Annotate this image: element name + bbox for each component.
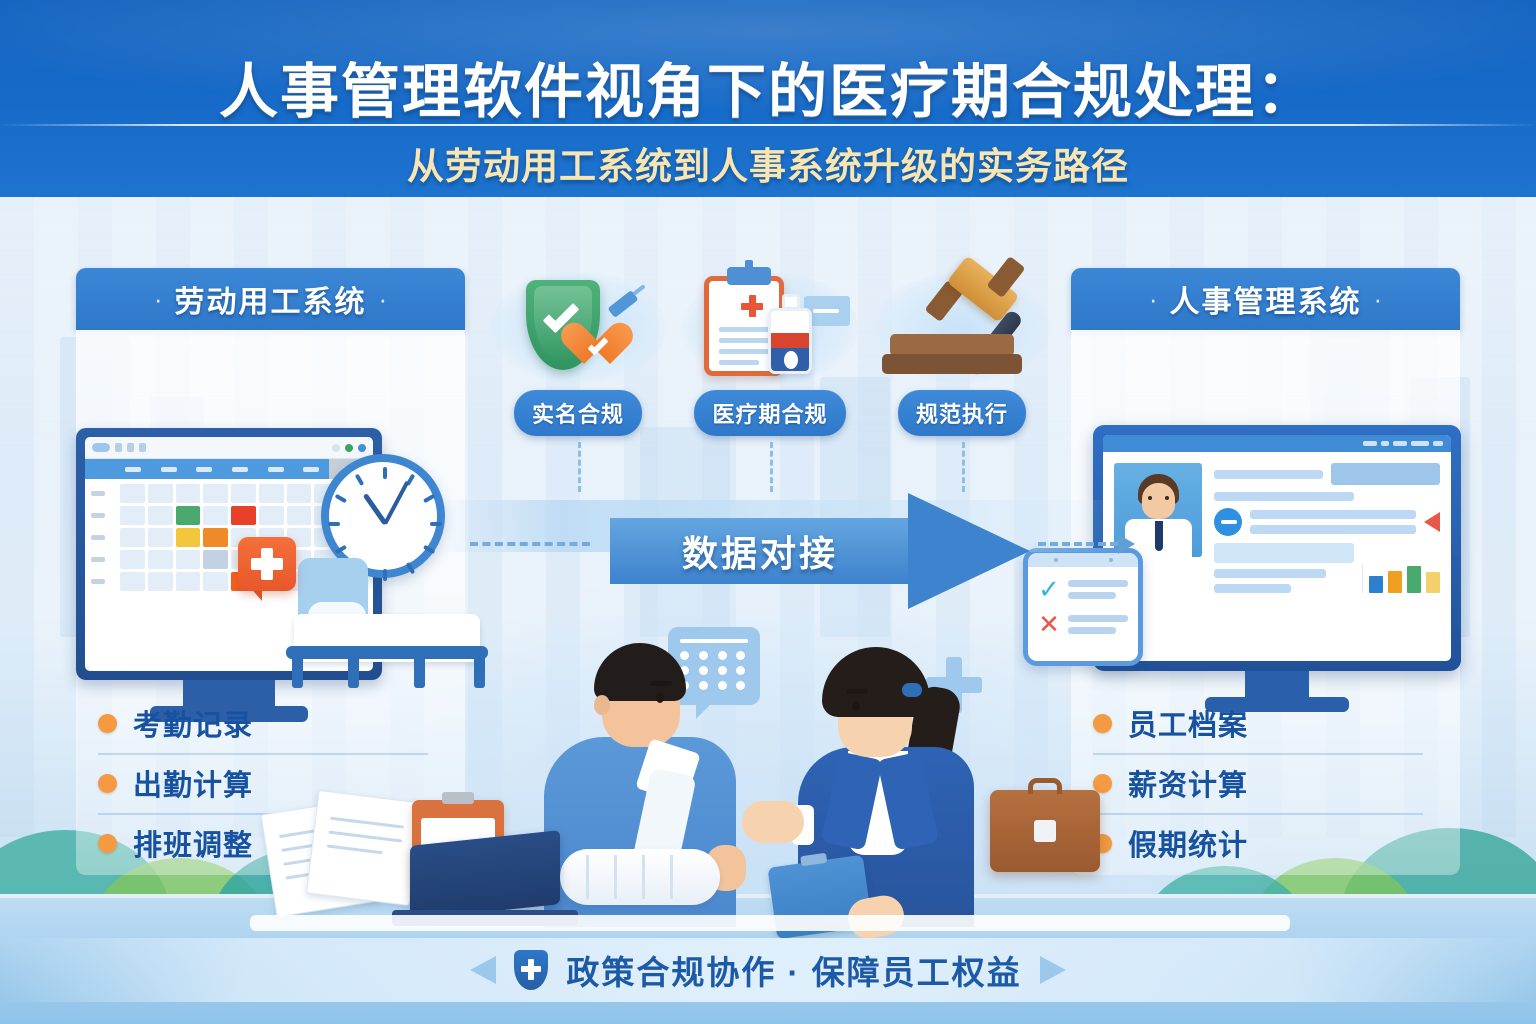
bullet-dot-icon <box>1093 774 1112 793</box>
list-item[interactable]: 薪资计算 <box>1093 755 1423 815</box>
footer-arrow-right-icon <box>1040 956 1066 984</box>
bullet-dot-icon <box>98 714 117 733</box>
checklist-tablet[interactable]: ✓ ✕ <box>1023 548 1143 666</box>
right-panel: · 人事管理系统 · <box>1071 268 1460 875</box>
left-header-dot-left: · <box>142 284 175 315</box>
data-sync-arrow-label: 数据对接 <box>610 518 910 584</box>
right-bullet-list: 员工档案 薪资计算 假期统计 <box>1093 695 1423 873</box>
consultation-illustration <box>530 625 1000 925</box>
hr-monitor-stand <box>1245 671 1309 697</box>
calendar-cell-orange <box>203 528 228 547</box>
compliance-label-shield: 实名合规 <box>514 390 642 436</box>
right-header-dot-left: · <box>1137 284 1170 315</box>
compliance-item-shield[interactable]: 实名合规 <box>490 272 666 436</box>
hr-app-toolbar[interactable] <box>1103 435 1451 452</box>
bullet-label: 考勤记录 <box>133 702 253 744</box>
tablet-top-bar <box>1028 553 1138 567</box>
compliance-item-legal[interactable]: 规范执行 <box>874 272 1050 436</box>
compliance-item-medical[interactable]: 医疗期合规 <box>682 272 858 436</box>
bullet-label: 员工档案 <box>1128 702 1248 744</box>
donut-chart-icon <box>1214 508 1242 536</box>
compliance-label-medical: 医疗期合规 <box>694 390 845 436</box>
left-panel-title: 劳动用工系统 <box>175 277 367 321</box>
calendar-cell-green <box>176 506 201 525</box>
left-panel-header: · 劳动用工系统 · <box>76 268 465 330</box>
list-item[interactable]: 考勤记录 <box>98 695 428 755</box>
right-header-dot-right: · <box>1362 284 1395 315</box>
browser-icon-3 <box>139 443 146 452</box>
list-item[interactable]: 员工档案 <box>1093 695 1423 755</box>
compliance-label-legal: 规范执行 <box>898 390 1026 436</box>
page-subtitle: 从劳动用工系统到人事系统升级的实务路径 <box>0 136 1536 190</box>
flow-dash-right <box>1038 542 1118 546</box>
browser-toolbar[interactable] <box>85 437 373 459</box>
poster-header: 人事管理软件视角下的医疗期合规处理： 从劳动用工系统到人事系统升级的实务路径 <box>0 0 1536 197</box>
hr-monitor <box>1093 425 1461 671</box>
medical-clipboard-icon <box>682 272 858 384</box>
bullet-dot-icon <box>1093 714 1112 733</box>
cross-icon: ✕ <box>1038 611 1060 637</box>
calendar-cell-yellow <box>176 528 201 547</box>
hr-monitor-screen <box>1103 435 1451 661</box>
hospital-bed-icon <box>286 558 491 688</box>
data-sync-arrow: 数据对接 <box>610 493 1030 593</box>
calendar-header-row <box>85 459 373 479</box>
status-dot-grey <box>332 444 340 452</box>
check-icon: ✓ <box>1038 576 1060 602</box>
footer-arrow-left-icon <box>470 956 496 984</box>
bullet-label: 薪资计算 <box>1128 762 1248 804</box>
play-triangle-icon <box>1424 512 1440 532</box>
flow-dash-left <box>470 542 590 546</box>
right-panel-body: ✓ ✕ 员工档案 薪资计算 假期统计 <box>1071 330 1460 875</box>
flow-dash-arrowhead <box>1118 534 1135 554</box>
right-panel-title: 人事管理系统 <box>1170 277 1362 321</box>
gavel-icon <box>874 272 1050 384</box>
briefcase-icon <box>990 790 1100 872</box>
infographic-poster: 人事管理软件视角下的医疗期合规处理： 从劳动用工系统到人事系统升级的实务路径 ·… <box>0 0 1536 1024</box>
checklist-row-pass[interactable]: ✓ <box>1028 567 1138 602</box>
calendar-cell-red <box>231 506 256 525</box>
shield-check-icon <box>490 272 666 384</box>
status-dot-blue <box>358 444 366 452</box>
bar-chart-icon <box>1362 565 1440 593</box>
desk-surface <box>250 915 1290 931</box>
bullet-label: 出勤计算 <box>133 762 253 804</box>
footer-text: 政策合规协作 · 保障员工权益 <box>566 946 1021 994</box>
left-panel: · 劳动用工系统 · <box>76 268 465 875</box>
status-dot-green <box>345 444 353 452</box>
browser-icon-1 <box>115 443 122 452</box>
right-panel-header: · 人事管理系统 · <box>1071 268 1460 330</box>
compliance-icons-row: 实名合规 医疗期合规 <box>490 272 1050 447</box>
bullet-dot-icon <box>98 774 117 793</box>
page-title: 人事管理软件视角下的医疗期合规处理： <box>0 44 1536 129</box>
footer-banner: 政策合规协作 · 保障员工权益 <box>0 938 1536 1002</box>
browser-icon-2 <box>127 443 134 452</box>
browser-pill <box>92 443 110 452</box>
shield-cross-icon <box>514 950 548 990</box>
left-header-dot-right: · <box>367 284 400 315</box>
bullet-label: 假期统计 <box>1128 822 1248 864</box>
medical-cross-badge <box>238 537 296 591</box>
checklist-row-fail[interactable]: ✕ <box>1028 602 1138 637</box>
bullet-label: 排班调整 <box>133 822 253 864</box>
bullet-dot-icon <box>98 834 117 853</box>
list-item[interactable]: 假期统计 <box>1093 815 1423 873</box>
